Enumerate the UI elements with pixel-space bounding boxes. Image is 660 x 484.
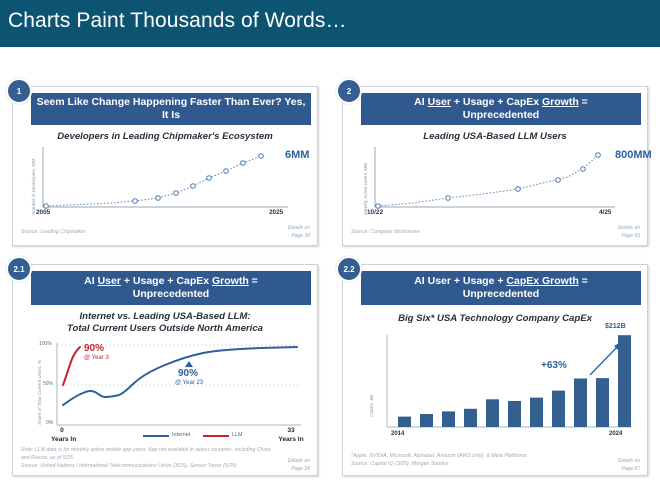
panel-grid: 1 Seem Like Change Happening Faster Than… (0, 58, 660, 484)
panel-2-2[interactable]: AI User + Usage + CapEx Growth =Unpreced… (342, 264, 648, 476)
panel-2-1-x-end: 33 (287, 427, 294, 434)
panel-2-x-tick-end: 4/25 (599, 209, 611, 216)
panel-1-source: Source: Leading Chipmaker (21, 229, 85, 237)
panel-2-1-subtitle-line2: Total Current Users Outside North Americ… (13, 323, 317, 335)
panel-2-1-internet-callout-value: 90% (178, 368, 198, 379)
panel-2-2-callout-value: $212B (605, 323, 626, 330)
panel-badge-2-1: 2.1 (6, 256, 32, 282)
panel-2-1-llm-callout-value: 90% (84, 343, 104, 354)
panel-2-2-header: AI User + Usage + CapEx Growth =Unpreced… (361, 271, 641, 305)
panel-2-1-header-text: AI User + Usage + CapEx Growth =Unpreced… (84, 275, 258, 301)
panel-2-2-footnote: *Apple, NVIDIA, Microsoft, Alphabet, Ama… (351, 453, 606, 461)
panel-2-1-x-end-unit: Years In (278, 436, 303, 443)
panel-2-header-text: AI User + Usage + CapEx Growth =Unpreced… (414, 96, 588, 122)
panel-2-2-x-tick-start: 2014 (391, 431, 404, 437)
panel-2-y-axis-label: Weekly Active Users, MM (363, 163, 368, 215)
panel-1-x-tick-start: 2005 (36, 209, 50, 216)
panel-2-2-x-tick-end: 2024 (609, 431, 622, 437)
legend-label-internet: Internet (172, 432, 190, 438)
legend-label-llm: LLM (232, 432, 243, 438)
panel-2-callout: 800MM (615, 149, 652, 161)
panel-2-2-growth-callout: +63% (541, 360, 567, 371)
panel-2-1-source: Source: United Nations / International T… (21, 463, 271, 471)
panel-2-header: AI User + Usage + CapEx Growth =Unpreced… (361, 93, 641, 125)
panel-2-1[interactable]: AI User + Usage + CapEx Growth =Unpreced… (12, 264, 318, 476)
panel-2-details: Details on Page 55 (618, 225, 640, 240)
panel-2-1-y-tick-100: 100% (39, 341, 52, 347)
panel-2-2-subtitle: Big Six* USA Technology Company CapEx (343, 313, 647, 325)
panel-2-1-x-start: 0 (60, 427, 64, 434)
panel-2-1-internet-callout-sub: @ Year 23 (175, 380, 203, 386)
panel-1-header: Seem Like Change Happening Faster Than E… (31, 93, 311, 125)
panel-2-2-y-axis-label: CapEx, $B (369, 395, 374, 417)
panel-2-1-llm-callout-sub: @ Year 3 (84, 355, 109, 361)
panel-1-subtitle: Developers in Leading Chipmaker's Ecosys… (13, 131, 317, 143)
panel-2-2-source: Source: Capital IQ (3/25), Morgan Stanle… (351, 461, 606, 469)
panel-1-y-axis-label: Number of Developers, MM (31, 159, 36, 215)
panel-2-1-note: Note: LLM data is for monthly active mob… (21, 447, 271, 462)
panel-2-2-details: Details on Page 97 (618, 458, 640, 473)
panel-1-x-tick-end: 2025 (269, 209, 283, 216)
panel-badge-2: 2 (336, 78, 362, 104)
panel-1[interactable]: Seem Like Change Happening Faster Than E… (12, 86, 318, 246)
page-title: Charts Paint Thousands of Words… (8, 9, 347, 33)
panel-2-2-chart (343, 331, 649, 441)
panel-2-1-y-tick-50: 50% (43, 381, 53, 387)
panel-1-details: Details on Page 38 (288, 225, 310, 240)
panel-1-callout: 6MM (285, 149, 309, 161)
panel-2-1-x-start-unit: Years In (51, 436, 76, 443)
panel-2-source: Source: Company disclosures (351, 229, 420, 237)
panel-2-x-tick-start: 10/22 (367, 209, 383, 216)
panel-1-header-text: Seem Like Change Happening Faster Than E… (35, 96, 307, 122)
panel-2-subtitle: Leading USA-Based LLM Users (343, 131, 647, 143)
legend-swatch-llm (203, 435, 229, 437)
panel-2[interactable]: AI User + Usage + CapEx Growth =Unpreced… (342, 86, 648, 246)
panel-2-1-subtitle-line1: Internet vs. Leading USA-Based LLM: (13, 311, 317, 323)
panel-2-1-header: AI User + Usage + CapEx Growth =Unpreced… (31, 271, 311, 305)
panel-2-1-chart (13, 339, 319, 437)
panel-2-1-y-tick-0: 0% (46, 420, 53, 426)
legend-swatch-internet (143, 435, 169, 437)
panel-2-1-y-axis-label: Share of Total Current Users, % (37, 360, 42, 425)
panel-badge-1: 1 (6, 78, 32, 104)
panel-2-1-details: Details on Page 24 (288, 458, 310, 473)
panel-2-2-header-text: AI User + Usage + CapEx Growth =Unpreced… (414, 275, 588, 301)
panel-badge-2-2: 2.2 (336, 256, 362, 282)
page-banner: Charts Paint Thousands of Words… (0, 0, 660, 47)
